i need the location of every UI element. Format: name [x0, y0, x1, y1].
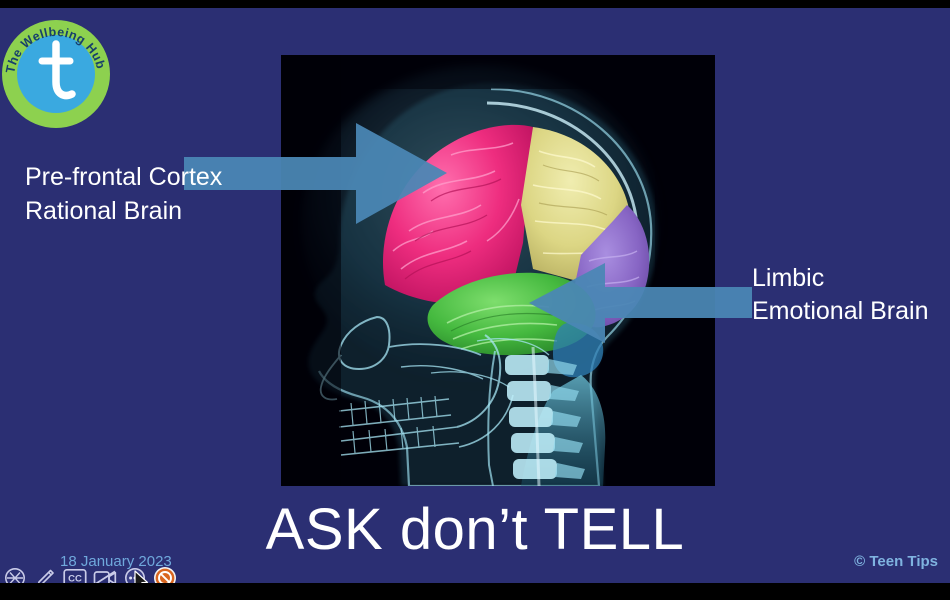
- arrow-pointing-to-limbic-system: [527, 261, 752, 345]
- closed-caption-icon[interactable]: CC: [62, 565, 88, 584]
- svg-text:CC: CC: [68, 573, 82, 583]
- annotate-icon[interactable]: [2, 565, 28, 584]
- callout-prefrontal-line1: Pre-frontal Cortex: [25, 160, 222, 194]
- more-options-icon[interactable]: [122, 565, 148, 584]
- wellbeing-hub-logo: The Wellbeing Hub: [2, 20, 110, 128]
- callout-limbic-line2: Emotional Brain: [752, 295, 928, 328]
- letterbox-top: [0, 0, 950, 8]
- pen-icon[interactable]: [32, 565, 58, 584]
- callout-prefrontal-line2: Rational Brain: [25, 194, 222, 228]
- presentation-slide: The Wellbeing Hub: [0, 8, 950, 583]
- logo-letter-t: [2, 20, 110, 128]
- callout-limbic: Limbic Emotional Brain: [752, 262, 928, 328]
- annotation-toolbar[interactable]: CC: [0, 564, 178, 583]
- arrow-pointing-to-prefrontal-cortex: [184, 121, 449, 226]
- letterbox-bottom: [0, 583, 950, 600]
- slide-headline: ASK don’t TELL: [0, 499, 950, 561]
- copyright-notice: © Teen Tips: [854, 553, 938, 570]
- screen-root: The Wellbeing Hub: [0, 0, 950, 600]
- stop-recording-icon[interactable]: [152, 565, 178, 584]
- callout-limbic-line1: Limbic: [752, 262, 928, 295]
- video-off-icon[interactable]: [92, 565, 118, 584]
- callout-prefrontal-cortex: Pre-frontal Cortex Rational Brain: [25, 160, 222, 228]
